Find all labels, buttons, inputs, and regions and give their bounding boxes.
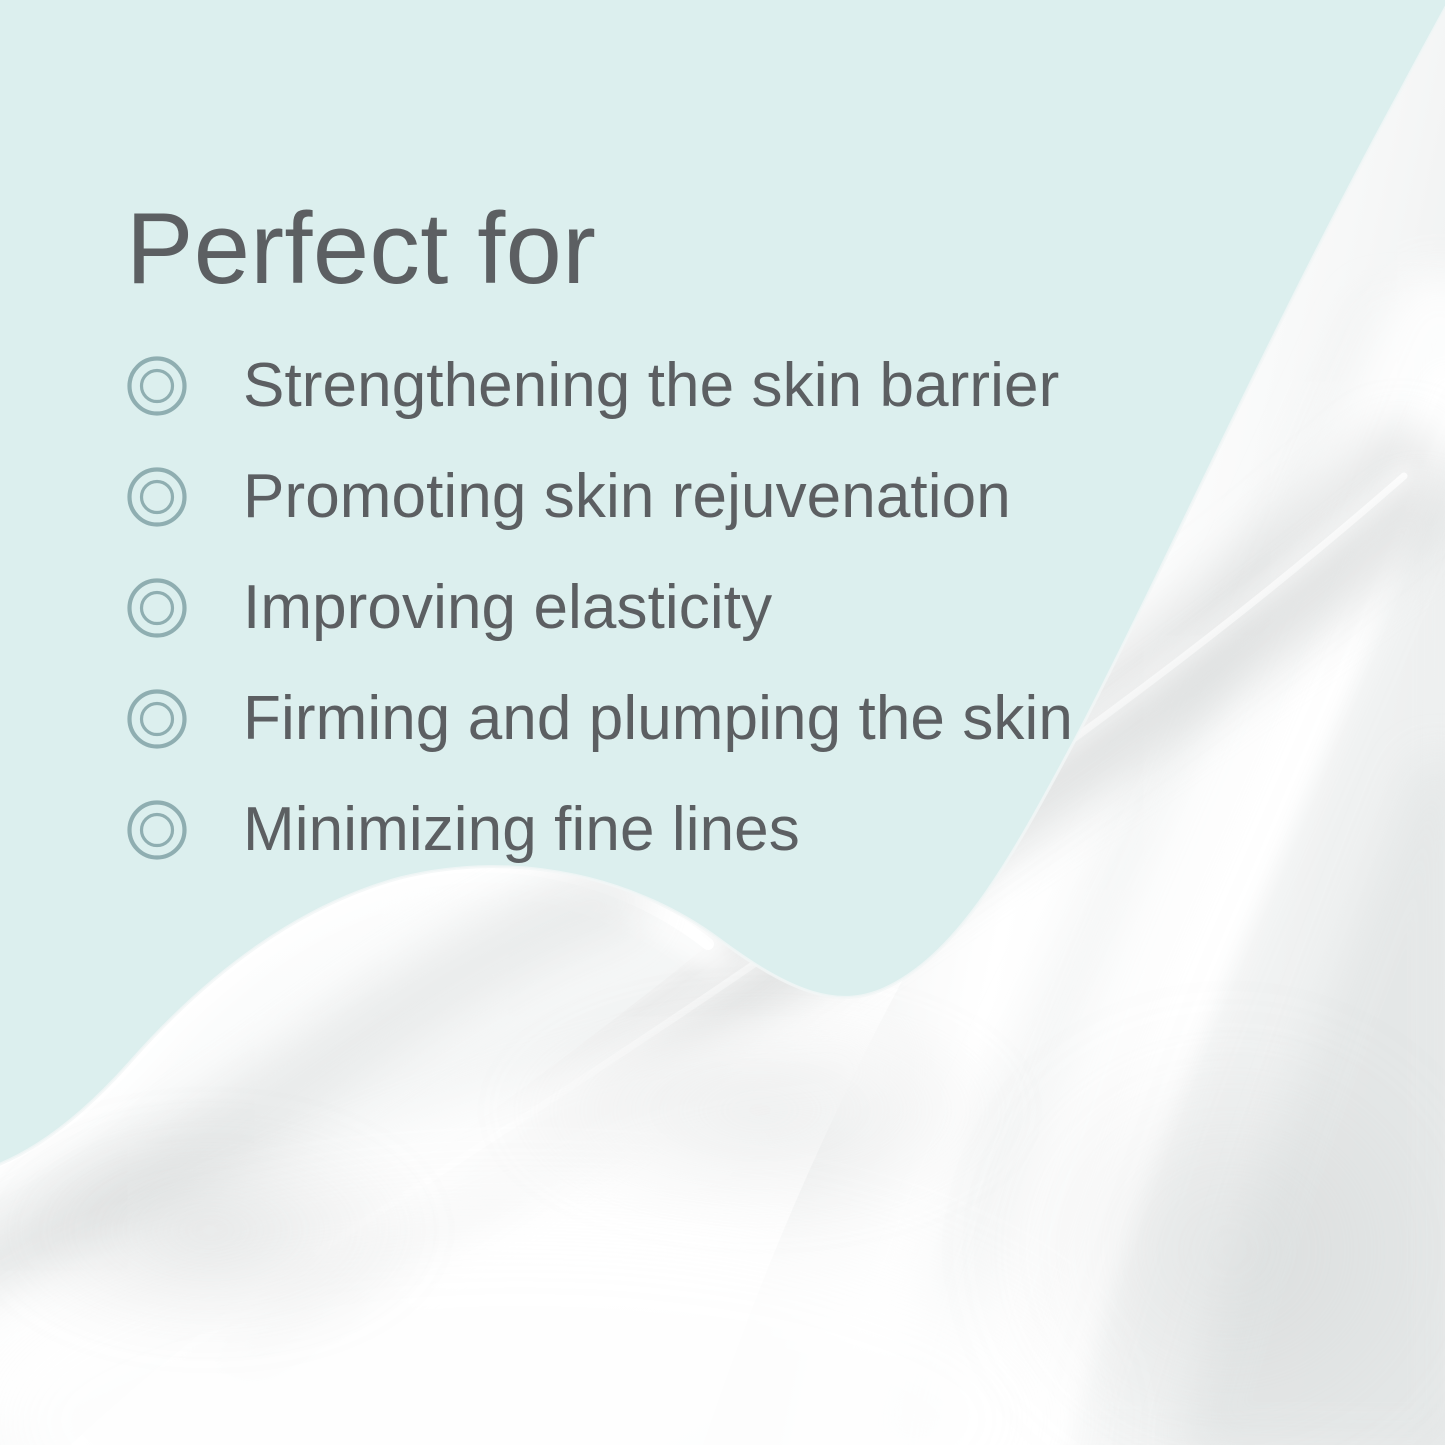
- promo-banner: Perfect for Strengthening the skin barri…: [0, 0, 1445, 1445]
- double-ring-circle-icon: [126, 577, 188, 639]
- list-item: Firming and plumping the skin: [126, 663, 1276, 774]
- benefits-list: Strengthening the skin barrier Promoting…: [126, 330, 1276, 885]
- list-item-label: Strengthening the skin barrier: [243, 353, 1059, 418]
- list-item: Improving elasticity: [126, 552, 1276, 663]
- double-ring-circle-icon: [126, 355, 188, 417]
- list-item: Minimizing fine lines: [126, 774, 1276, 885]
- list-item-label: Improving elasticity: [243, 575, 772, 640]
- list-item-label: Promoting skin rejuvenation: [243, 464, 1011, 529]
- list-item-label: Minimizing fine lines: [243, 797, 800, 862]
- list-item: Strengthening the skin barrier: [126, 330, 1276, 441]
- list-item-label: Firming and plumping the skin: [243, 686, 1073, 751]
- double-ring-circle-icon: [126, 466, 188, 528]
- page-title: Perfect for: [126, 199, 596, 300]
- double-ring-circle-icon: [126, 799, 188, 861]
- double-ring-circle-icon: [126, 688, 188, 750]
- list-item: Promoting skin rejuvenation: [126, 441, 1276, 552]
